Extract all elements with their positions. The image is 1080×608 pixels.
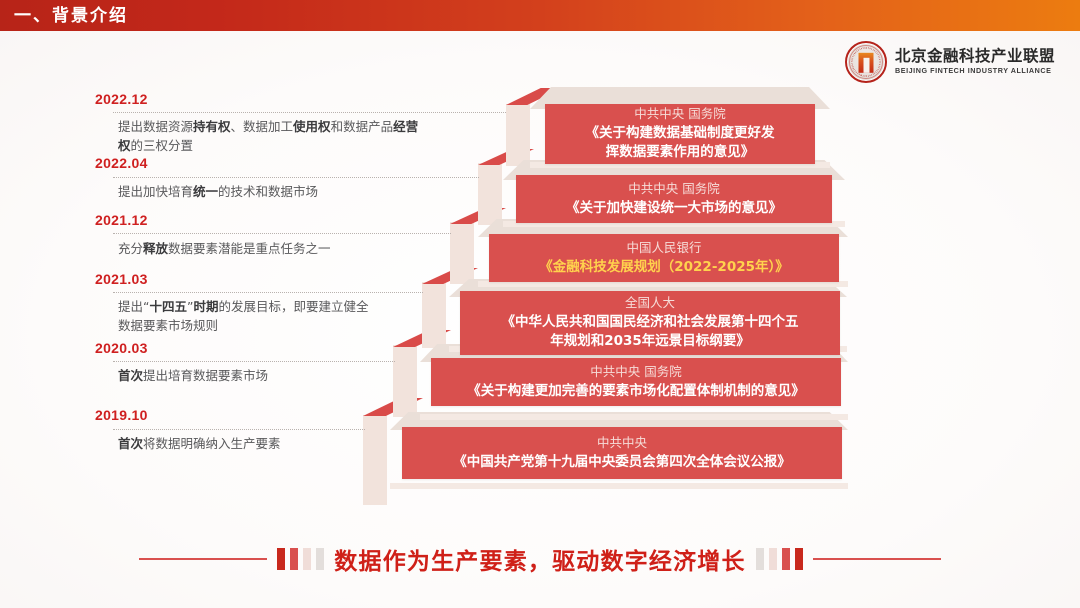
timeline-divider [113,233,451,234]
timeline-divider [113,292,423,293]
document-org: 中共中央 国务院 [634,105,725,124]
document-title-line: 《中华人民共和国国民经济和社会发展第十四个五 [494,313,807,332]
timeline-list: 2022.12 提出数据资源持有权、数据加工使用权和数据产品经营权的三权分置 2… [0,0,500,520]
document-title-line: 《关于构建数据基础制度更好发 [578,124,783,143]
timeline-divider [113,112,506,113]
banner-bar [303,548,311,570]
document-title-line: 挥数据要素作用的意见》 [598,143,763,162]
banner-bar [290,548,298,570]
timeline-item-2021-03[interactable]: 2021.03 [95,272,148,287]
banner-bar [316,548,324,570]
timeline-item-2021-12[interactable]: 2021.12 [95,213,148,228]
banner-bars-left [277,548,324,570]
banner-bar [769,548,777,570]
document-title-line: 年规划和2035年远景目标纲要》 [542,332,758,351]
document-title-line: 《关于加快建设统一大市场的意见》 [558,199,790,218]
timeline-description: 提出加快培育统一的技术和数据市场 [118,182,438,201]
timeline-item-2019-10[interactable]: 2019.10 [95,408,148,423]
timeline-item-2022-12[interactable]: 2022.12 [95,92,148,107]
banner-bar [756,548,764,570]
timeline-description: 提出“十四五”时期的发展目标，即要建立健全数据要素市场规则 [118,297,370,336]
document-org: 全国人大 [625,294,675,313]
timeline-divider [113,361,395,362]
banner-text: 数据作为生产要素，驱动数字经济增长 [334,542,745,576]
document-org: 中国人民银行 [626,239,701,258]
step-riser-1 [506,104,530,166]
timeline-date: 2019.10 [95,408,148,423]
timeline-item-2020-03[interactable]: 2020.03 [95,341,148,356]
document-org: 中共中央 [597,434,647,453]
slide-canvas: 一、背景介绍 北京金融科技产业联盟 BEIJING FINTECH INDUST… [0,0,1080,608]
document-box-4[interactable]: 全国人大 《中华人民共和国国民经济和社会发展第十四个五 年规划和2035年远景目… [460,291,840,355]
document-title-line: 《关于构建更加完善的要素市场化配置体制机制的意见》 [459,382,813,401]
timeline-divider [113,429,365,430]
banner-bar [795,548,803,570]
timeline-date: 2021.12 [95,213,148,228]
document-title-line: 《金融科技发展规划（2022-2025年）》 [531,258,797,277]
timeline-description: 首次将数据明确纳入生产要素 [118,434,418,453]
banner-bars-right [756,548,803,570]
document-box-3[interactable]: 中国人民银行 《金融科技发展规划（2022-2025年）》 [489,234,839,282]
banner-bar [782,548,790,570]
timeline-date: 2022.12 [95,92,148,107]
timeline-description: 提出数据资源持有权、数据加工使用权和数据产品经营权的三权分置 [118,117,428,156]
timeline-date: 2022.04 [95,156,148,171]
banner-bar [277,548,285,570]
document-box-1[interactable]: 中共中央 国务院 《关于构建数据基础制度更好发 挥数据要素作用的意见》 [545,104,815,164]
timeline-divider [113,177,479,178]
banner-rule-right [813,558,941,560]
document-org: 中共中央 国务院 [590,363,681,382]
banner-rule-left [139,558,267,560]
timeline-date: 2020.03 [95,341,148,356]
bottom-banner: 数据作为生产要素，驱动数字经济增长 [0,528,1080,590]
timeline-date: 2021.03 [95,272,148,287]
document-org: 中共中央 国务院 [628,180,719,199]
timeline-description: 充分释放数据要素潜能是重点任务之一 [118,239,438,258]
timeline-item-2022-04[interactable]: 2022.04 [95,156,148,171]
document-box-2[interactable]: 中共中央 国务院 《关于加快建设统一大市场的意见》 [516,175,832,223]
timeline-description: 首次提出培育数据要素市场 [118,366,418,385]
